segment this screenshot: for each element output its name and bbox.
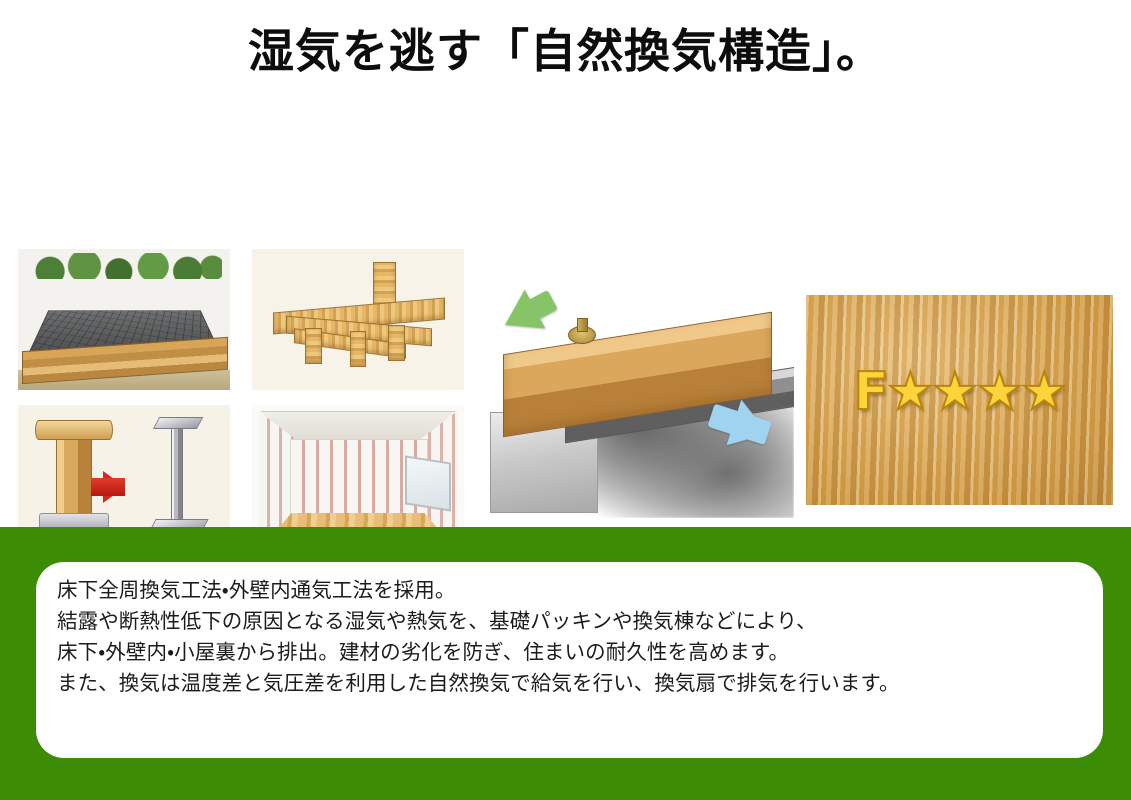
page-title: 湿気を逃す「自然換気構造」。 bbox=[0, 24, 1131, 79]
foundation-rebar-illustration bbox=[18, 249, 230, 390]
joist-beam-shape-3 bbox=[350, 331, 367, 367]
illustration-gallery: F★★★★ 木材束 鋼製束 bbox=[0, 118, 1131, 448]
f-four-star-label: F★★★★ bbox=[806, 366, 1113, 418]
footer-description-text: 床下全周換気工法・外壁内通気工法を採用。 結露や断熱性低下の原因となる湿気や熱気… bbox=[57, 575, 1077, 699]
window-shape bbox=[405, 455, 451, 511]
floor-framing-art bbox=[252, 249, 464, 390]
floor-framing-illustration bbox=[252, 249, 464, 390]
foundation-rebar-art bbox=[18, 249, 230, 390]
replacement-arrow-icon bbox=[103, 471, 125, 503]
joist-beam-shape-4 bbox=[388, 325, 405, 361]
wooden-post-cap-shape bbox=[35, 420, 113, 440]
exhaust-arrow-icon bbox=[494, 290, 545, 345]
steel-post-cap-shape bbox=[153, 417, 204, 429]
wooden-post-shape bbox=[56, 429, 92, 517]
joist-beam-shape-2 bbox=[305, 328, 322, 364]
foundation-packing-illustration bbox=[484, 281, 794, 518]
steel-post-shape bbox=[171, 423, 184, 526]
hedge-shape bbox=[31, 253, 222, 278]
anchor-bolt-shape bbox=[568, 326, 596, 344]
foundation-packing-art bbox=[484, 281, 794, 518]
f-four-star-rating-photo: F★★★★ bbox=[806, 295, 1113, 505]
woodgrain-background: F★★★★ bbox=[806, 295, 1113, 505]
